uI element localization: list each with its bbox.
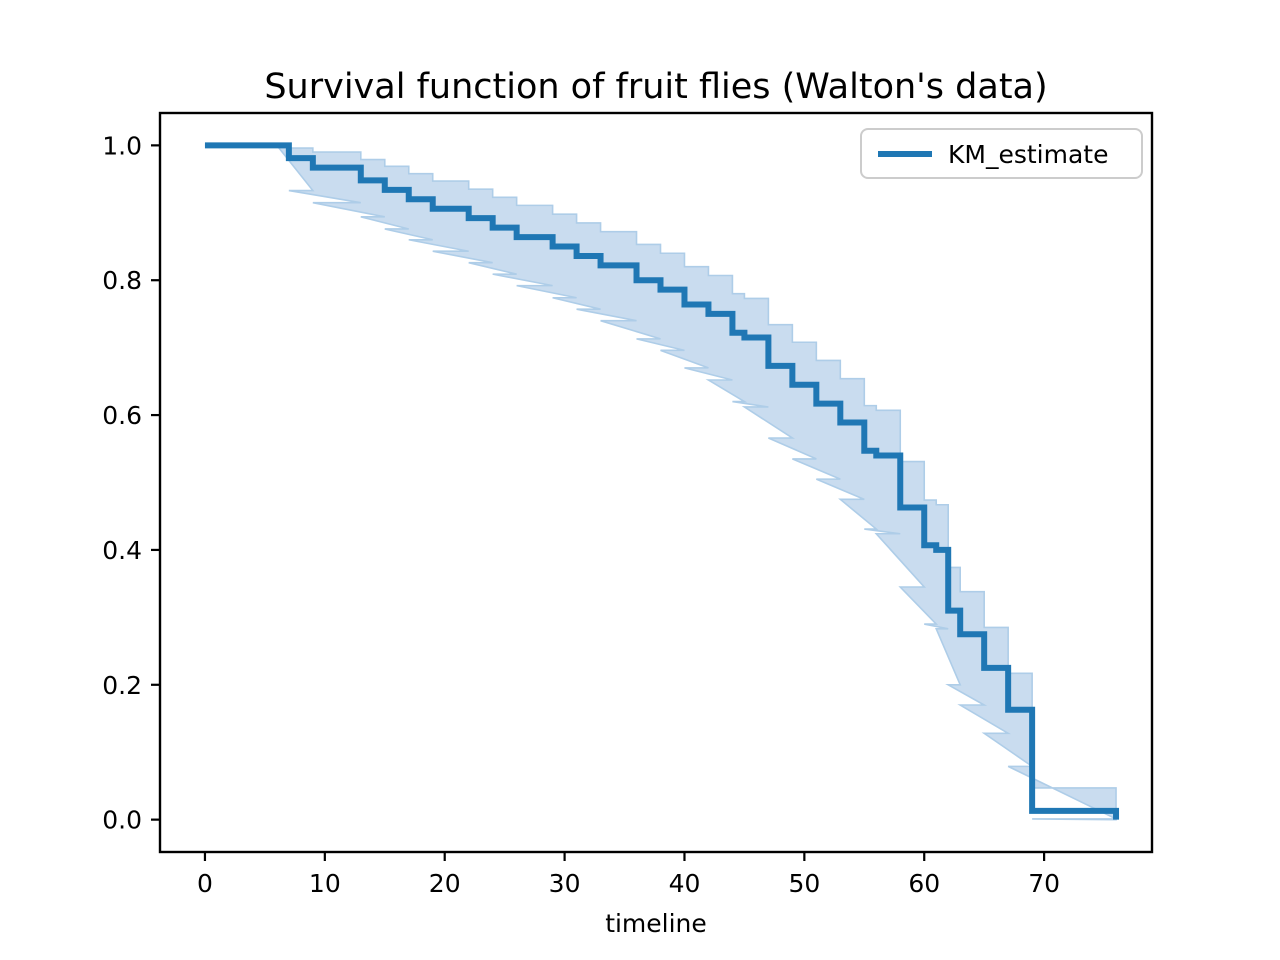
page-title: Survival function of fruit flies (Walton… (264, 67, 1047, 107)
x-tick-label: 30 (549, 869, 581, 898)
confidence-interval-band (205, 145, 1116, 819)
x-axis-ticks: 010203040506070 (197, 852, 1060, 898)
y-tick-label: 0.8 (102, 266, 142, 295)
x-tick-label: 50 (788, 869, 820, 898)
x-tick-label: 20 (429, 869, 461, 898)
y-tick-label: 0.4 (102, 536, 142, 565)
legend-entry-label: KM_estimate (948, 140, 1108, 169)
y-axis-ticks: 0.00.20.40.60.81.0 (102, 131, 160, 834)
x-tick-label: 40 (669, 869, 701, 898)
x-tick-label: 0 (197, 869, 213, 898)
y-tick-label: 0.0 (102, 806, 142, 835)
y-tick-label: 1.0 (102, 131, 142, 160)
figure-canvas: Survival function of fruit flies (Walton… (0, 0, 1280, 960)
x-tick-label: 70 (1028, 869, 1060, 898)
legend[interactable]: KM_estimate (861, 129, 1142, 178)
x-tick-label: 60 (908, 869, 940, 898)
y-tick-label: 0.2 (102, 671, 142, 700)
x-tick-label: 10 (309, 869, 341, 898)
y-tick-label: 0.6 (102, 401, 142, 430)
survival-plot: Survival function of fruit flies (Walton… (0, 0, 1280, 960)
x-axis-label: timeline (605, 909, 707, 938)
